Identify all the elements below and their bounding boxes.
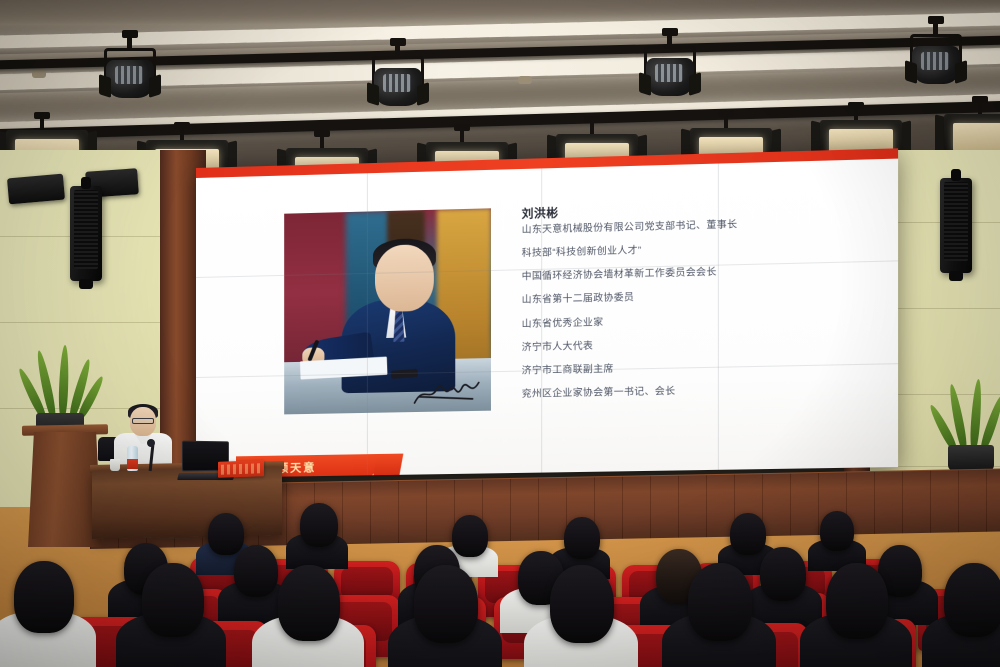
attendee-head bbox=[550, 565, 614, 643]
credential-line: 中国循环经济协会墙材革新工作委员会会长 bbox=[522, 265, 865, 284]
credential-line: 山东省优秀企业家 bbox=[522, 312, 865, 330]
banner-accent-shape bbox=[373, 454, 403, 478]
smoke-detector-icon bbox=[518, 76, 532, 84]
attendee-head bbox=[452, 515, 488, 557]
desk-nameplate bbox=[218, 460, 264, 478]
signature-icon bbox=[412, 374, 487, 410]
fresnel-spotlight bbox=[906, 26, 966, 88]
portrait-photo bbox=[284, 208, 491, 414]
wall-speaker-left bbox=[70, 186, 102, 281]
fresnel-spotlight bbox=[100, 40, 160, 102]
attendee-head bbox=[760, 547, 806, 601]
audience-area bbox=[0, 487, 1000, 667]
attendee-head bbox=[300, 503, 338, 547]
wall-speaker-right bbox=[940, 178, 972, 273]
paper-cup bbox=[110, 459, 120, 471]
attendee-head bbox=[564, 517, 600, 559]
attendee-head bbox=[730, 513, 766, 555]
credential-line: 济宁市人大代表 bbox=[522, 336, 865, 354]
attendee-head bbox=[688, 563, 752, 641]
slide-person-name: 刘洪彬 bbox=[522, 204, 559, 221]
attendee-head bbox=[14, 561, 74, 633]
attendee-head bbox=[414, 565, 478, 643]
attendee-head bbox=[208, 513, 244, 555]
attendee-head bbox=[820, 511, 854, 551]
fresnel-spotlight bbox=[368, 48, 428, 110]
credential-line: 科技部“科技创新创业人才” bbox=[522, 241, 865, 260]
attendee-head bbox=[234, 545, 278, 597]
attendee-head bbox=[278, 565, 340, 641]
credential-line: 济宁市工商联副主席 bbox=[522, 360, 865, 377]
smoke-detector-icon bbox=[32, 70, 46, 78]
presentation-slide: 刘洪彬 山东天意机械股份有限公司党支部书记、董事长 科技部“科技创新创业人才” … bbox=[196, 159, 898, 478]
slide-credentials-list: 山东天意机械股份有限公司党支部书记、董事长 科技部“科技创新创业人才” 中国循环… bbox=[522, 217, 865, 413]
ceiling-speaker bbox=[7, 174, 65, 205]
fresnel-spotlight bbox=[640, 38, 700, 100]
attendee-head bbox=[826, 563, 888, 639]
attendee-head bbox=[944, 563, 1000, 637]
plant-right bbox=[948, 379, 994, 471]
attendee-head bbox=[142, 563, 204, 637]
glasses-icon bbox=[132, 418, 154, 424]
presenter bbox=[112, 407, 174, 469]
auditorium-scene: 刘洪彬 山东天意机械股份有限公司党支部书记、董事长 科技部“科技创新创业人才” … bbox=[0, 0, 1000, 667]
led-video-wall[interactable]: 刘洪彬 山东天意机械股份有限公司党支部书记、董事长 科技部“科技创新创业人才” … bbox=[196, 148, 898, 478]
credential-line: 山东省第十二届政协委员 bbox=[522, 288, 865, 306]
bottle-label bbox=[127, 459, 138, 469]
microphone-icon bbox=[147, 439, 155, 447]
credential-line: 山东天意机械股份有限公司党支部书记、董事长 bbox=[522, 217, 865, 236]
credential-line: 兖州区企业家协会第一书记、会长 bbox=[522, 383, 865, 400]
